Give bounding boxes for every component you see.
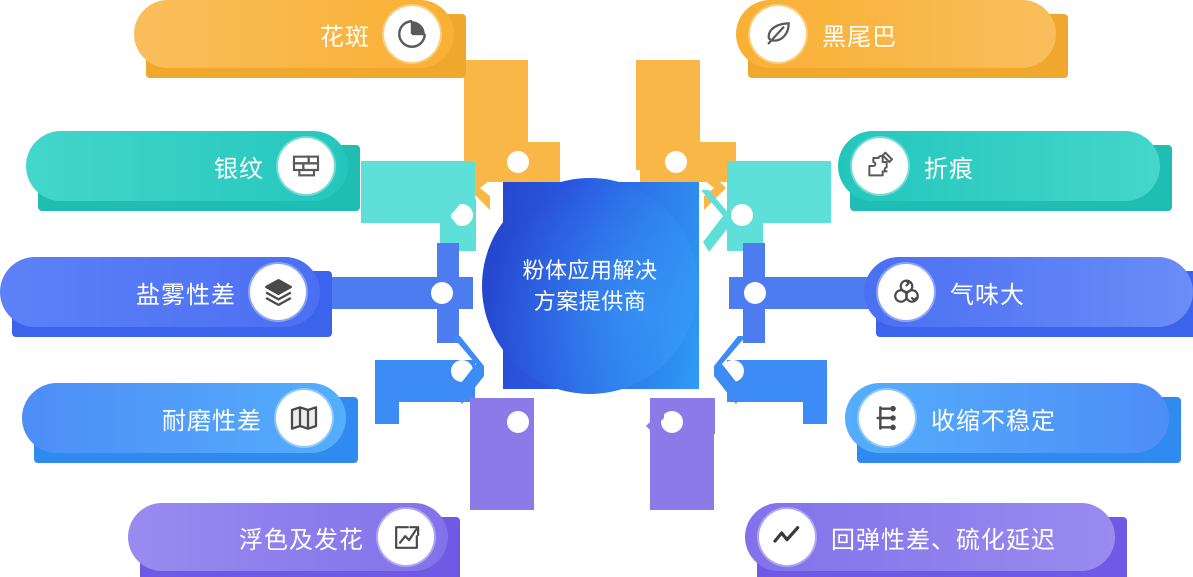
pill-left-4[interactable]: 耐磨性差 [22, 383, 346, 453]
pill-right-4[interactable]: 收缩不稳定 [845, 383, 1169, 453]
arrowhead-right-2 [695, 190, 733, 258]
line-chart-icon [759, 509, 815, 565]
pill-left-3-label: 盐雾性差 [136, 275, 236, 310]
pill-left-1-body[interactable]: 花斑 [134, 0, 454, 68]
pill-left-5-label: 浮色及发花 [239, 520, 364, 555]
arrowhead-right-5 [638, 404, 672, 448]
pill-right-4-body[interactable]: 收缩不稳定 [845, 383, 1169, 453]
pill-right-5-label: 回弹性差、硫化延迟 [831, 520, 1056, 555]
connector-dot-right-2 [731, 204, 753, 226]
diagram-canvas: 粉体应用解决 方案提供商 花斑 银纹 [0, 0, 1193, 577]
center-title-line1: 粉体应用解决 [522, 255, 657, 286]
pill-right-1-label: 黑尾巴 [822, 17, 897, 52]
connector-left-4-foot [375, 394, 399, 424]
pie-chart-icon [384, 6, 440, 62]
center-title: 粉体应用解决 方案提供商 [482, 178, 698, 394]
layers-icon [250, 264, 306, 320]
pill-left-3-body[interactable]: 盐雾性差 [0, 257, 320, 327]
pill-right-3[interactable]: 气味大 [864, 257, 1193, 327]
pill-right-3-label: 气味大 [950, 275, 1025, 310]
arrowhead-right-4 [714, 336, 758, 410]
pill-left-1-label: 花斑 [320, 17, 370, 52]
pill-left-4-body[interactable]: 耐磨性差 [22, 383, 346, 453]
pill-right-2-label: 折痕 [924, 149, 974, 184]
pill-right-4-label: 收缩不稳定 [931, 401, 1056, 436]
recycle-icon [878, 264, 934, 320]
connector-dot-right-1 [665, 151, 687, 173]
pill-left-2[interactable]: 银纹 [26, 131, 348, 201]
connector-dot-right-3 [744, 282, 766, 304]
pill-left-2-body[interactable]: 银纹 [26, 131, 348, 201]
brick-wall-icon [278, 138, 334, 194]
pill-left-3[interactable]: 盐雾性差 [0, 257, 320, 327]
pill-left-1[interactable]: 花斑 [134, 0, 454, 68]
pill-left-5[interactable]: 浮色及发花 [128, 503, 448, 571]
pill-left-4-label: 耐磨性差 [162, 401, 262, 436]
pill-right-1[interactable]: 黑尾巴 [736, 0, 1056, 68]
pill-left-2-label: 银纹 [214, 149, 264, 184]
sitemap-icon [859, 390, 915, 446]
puzzle-icon [852, 138, 908, 194]
pill-right-5-body[interactable]: 回弹性差、硫化延迟 [745, 503, 1115, 571]
pill-left-5-body[interactable]: 浮色及发花 [128, 503, 448, 571]
leaf-icon [750, 6, 806, 62]
center-title-line2: 方案提供商 [522, 286, 657, 317]
pill-right-2[interactable]: 折痕 [838, 131, 1160, 201]
pill-right-3-body[interactable]: 气味大 [864, 257, 1193, 327]
connector-dot-left-5 [507, 411, 529, 433]
map-icon [276, 390, 332, 446]
trending-chart-icon [378, 509, 434, 565]
pill-right-1-body[interactable]: 黑尾巴 [736, 0, 1056, 68]
connector-right-4-foot [803, 394, 827, 424]
connector-dot-left-1 [507, 151, 529, 173]
connector-dot-left-3 [431, 282, 453, 304]
pill-right-5[interactable]: 回弹性差、硫化延迟 [745, 503, 1115, 571]
pill-right-2-body[interactable]: 折痕 [838, 131, 1160, 201]
